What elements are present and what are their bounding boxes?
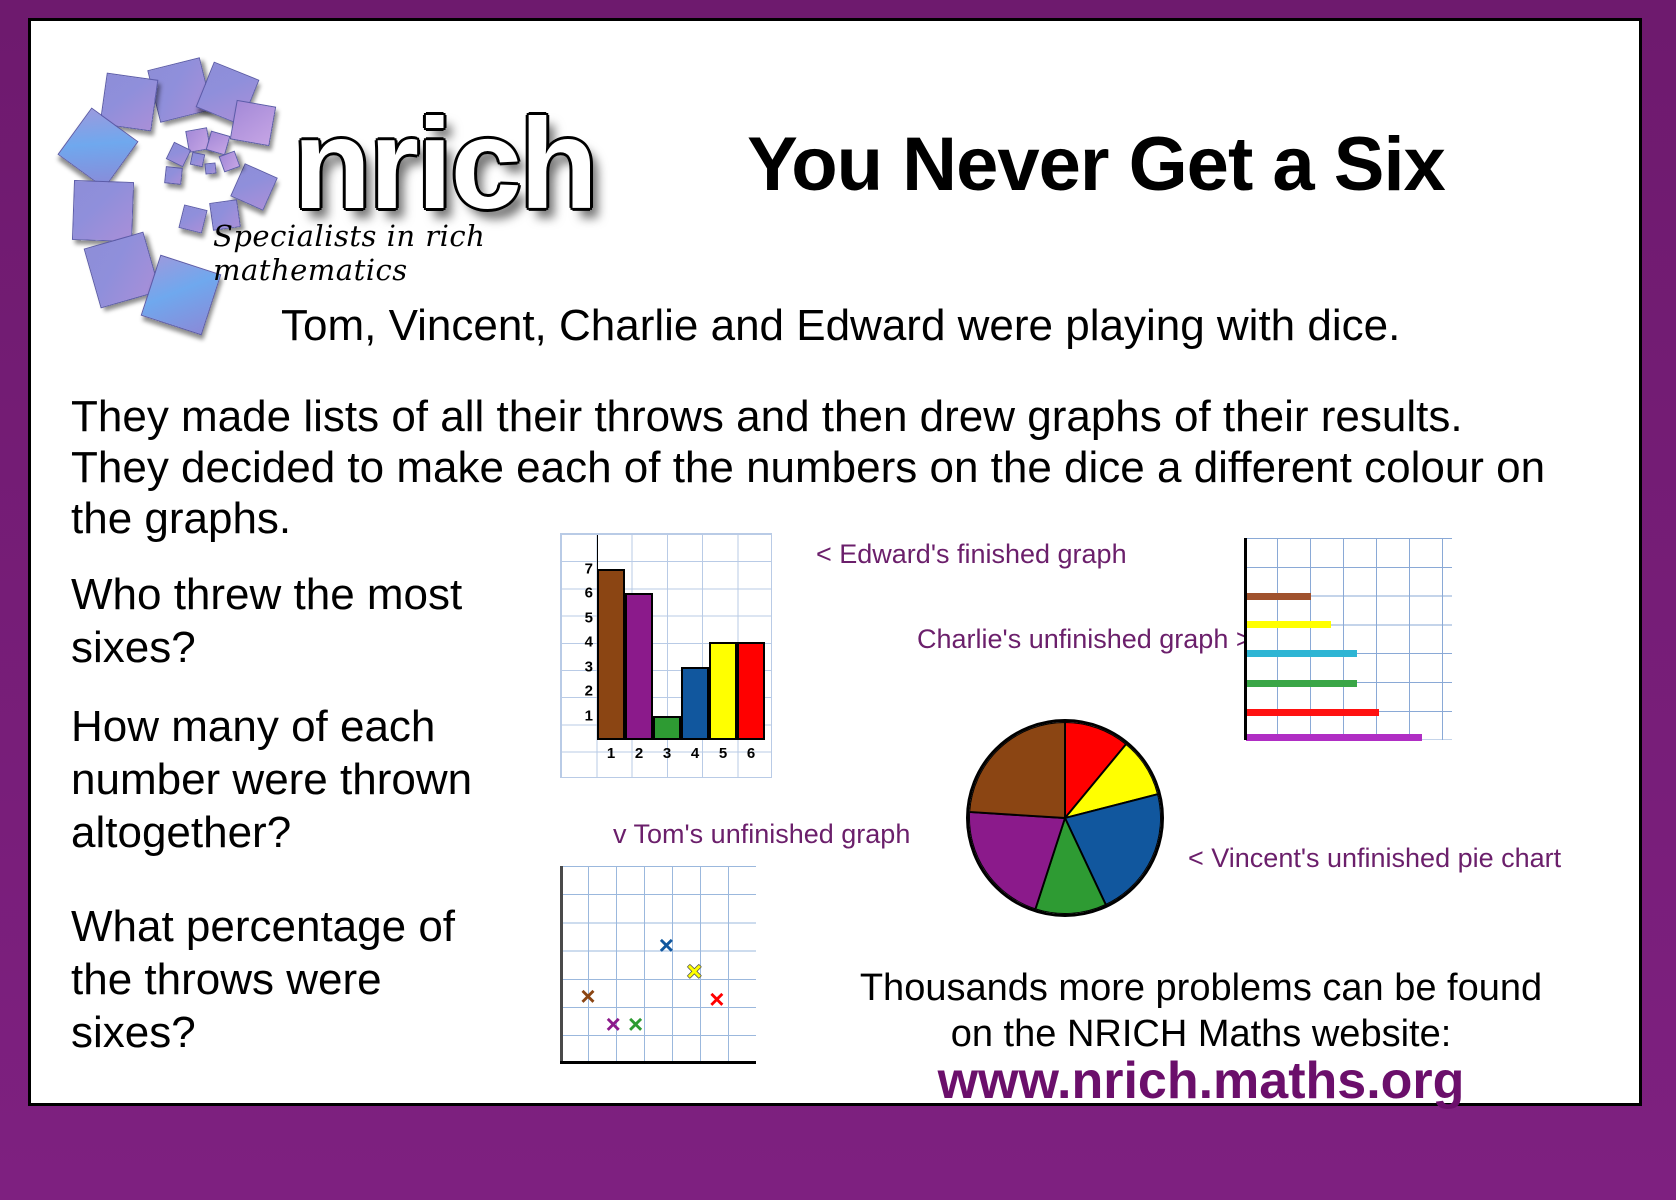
page-title: You Never Get a Six xyxy=(616,121,1576,208)
poster-root: nrich Specialists in rich mathematics Yo… xyxy=(0,0,1676,1200)
logo-square xyxy=(72,180,134,242)
caption-tom: v Tom's unfinished graph xyxy=(613,819,910,850)
bar-1 xyxy=(597,569,625,741)
footer-text: Thousands more problems can be found on … xyxy=(851,966,1551,1057)
logo-square xyxy=(206,131,231,156)
y-tick-7: 7 xyxy=(585,560,593,577)
logo-square xyxy=(178,204,207,233)
chart-y-axis-labels: 1234567 xyxy=(569,544,595,740)
chart-y-axis-line xyxy=(1244,538,1247,740)
pie-svg xyxy=(969,722,1161,914)
question-2: How many of each number were thrown alto… xyxy=(71,701,501,859)
y-tick-2: 2 xyxy=(585,683,593,700)
logo-tagline: Specialists in rich mathematics xyxy=(213,219,581,287)
y-tick-1: 1 xyxy=(585,707,593,724)
point-4: × xyxy=(659,932,674,958)
chart-x-axis-labels: 123456 xyxy=(597,745,769,767)
bar-6 xyxy=(1246,734,1422,741)
y-tick-3: 3 xyxy=(585,658,593,675)
x-tick-2: 2 xyxy=(625,745,653,767)
point-6: × xyxy=(709,986,724,1012)
bar-4 xyxy=(1246,680,1357,687)
logo-wordmark: nrich xyxy=(293,101,596,229)
description-paragraph: They made lists of all their throws and … xyxy=(71,391,1571,544)
caption-vincent: < Vincent's unfinished pie chart xyxy=(1188,843,1561,874)
chart-edward-bar: 1234567 123456 xyxy=(560,533,772,778)
bar-4 xyxy=(681,667,709,741)
nrich-website-link[interactable]: www.nrich.maths.org xyxy=(851,1051,1551,1111)
pie-slice-1 xyxy=(969,722,1065,818)
chart-y-axis-line xyxy=(560,866,563,1064)
bar-3 xyxy=(653,716,681,741)
logo-square xyxy=(204,162,216,174)
chart-bars xyxy=(597,544,769,740)
question-3: What percentage of the throws were sixes… xyxy=(71,901,501,1059)
x-tick-5: 5 xyxy=(709,745,737,767)
bar-5 xyxy=(1246,709,1379,716)
bar-3 xyxy=(1246,650,1357,657)
logo-square xyxy=(230,100,276,146)
y-tick-6: 6 xyxy=(585,585,593,602)
intro-text: Tom, Vincent, Charlie and Edward were pl… xyxy=(281,301,1511,351)
x-tick-1: 1 xyxy=(597,745,625,767)
poster-card: nrich Specialists in rich mathematics Yo… xyxy=(28,18,1642,1106)
chart-tom-scatter: ×××××× xyxy=(560,866,756,1064)
x-tick-3: 3 xyxy=(653,745,681,767)
point-3: × xyxy=(628,1011,643,1037)
y-tick-5: 5 xyxy=(585,609,593,626)
point-2: × xyxy=(606,1011,621,1037)
caption-charlie: Charlie's unfinished graph > xyxy=(917,624,1252,655)
bar-6 xyxy=(737,642,765,740)
question-1: Who threw the most sixes? xyxy=(71,569,501,675)
bar-2 xyxy=(1246,621,1331,628)
bar-5 xyxy=(709,642,737,740)
point-5: × xyxy=(687,958,702,984)
chart-gridlines xyxy=(560,866,756,1064)
x-tick-6: 6 xyxy=(737,745,765,767)
chart-charlie-hbar xyxy=(1244,538,1452,740)
chart-x-axis-line xyxy=(560,1061,756,1064)
point-1: × xyxy=(580,983,595,1009)
chart-vincent-pie xyxy=(966,719,1164,917)
bar-2 xyxy=(625,593,653,740)
y-tick-4: 4 xyxy=(585,634,593,651)
logo-square xyxy=(164,166,183,185)
bar-1 xyxy=(1246,593,1311,600)
logo-square xyxy=(190,152,205,167)
x-tick-4: 4 xyxy=(681,745,709,767)
caption-edward: < Edward's finished graph xyxy=(816,539,1127,570)
